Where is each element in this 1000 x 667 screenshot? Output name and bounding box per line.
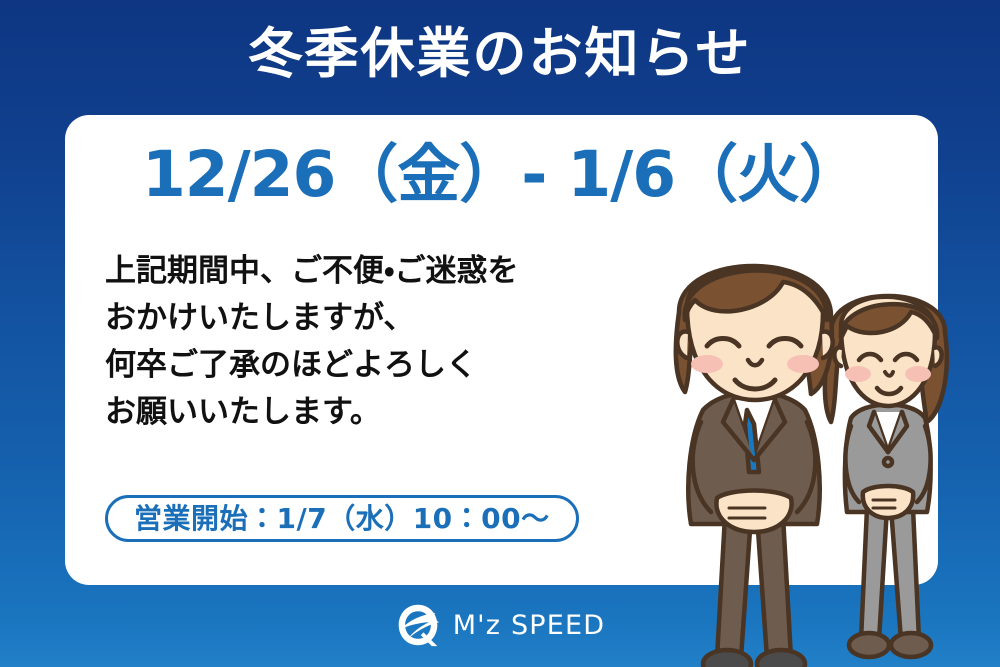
message-line-2: おかけいたしますが、 xyxy=(105,295,645,342)
winter-holiday-notice-poster: 冬季休業のお知らせ 12/26（金）- 1/6（火） 上記期間中、ご不便・ご迷惑… xyxy=(0,0,1000,667)
message-line-4: お願いいたします。 xyxy=(105,389,645,436)
message-line-3: 何卒ご了承のほどよろしく xyxy=(105,342,645,389)
reopen-badge-label: 営業開始：1/7（水）10：00〜 xyxy=(134,505,550,533)
apology-message: 上記期間中、ご不便・ご迷惑を おかけいたしますが、 何卒ご了承のほどよろしく お… xyxy=(105,248,645,436)
message-line-1: 上記期間中、ご不便・ご迷惑を xyxy=(105,248,645,295)
page-title: 冬季休業のお知らせ xyxy=(0,24,1000,83)
holiday-date-range: 12/26（金）- 1/6（火） xyxy=(65,139,938,211)
brand-name: M'z SPEED xyxy=(453,612,606,639)
brand-footer: M'z SPEED xyxy=(0,602,1000,648)
mz-speed-q-logo-icon xyxy=(395,602,441,648)
reopen-badge: 営業開始：1/7（水）10：00〜 xyxy=(105,495,579,542)
notice-card: 12/26（金）- 1/6（火） 上記期間中、ご不便・ご迷惑を おかけいたします… xyxy=(65,115,938,585)
